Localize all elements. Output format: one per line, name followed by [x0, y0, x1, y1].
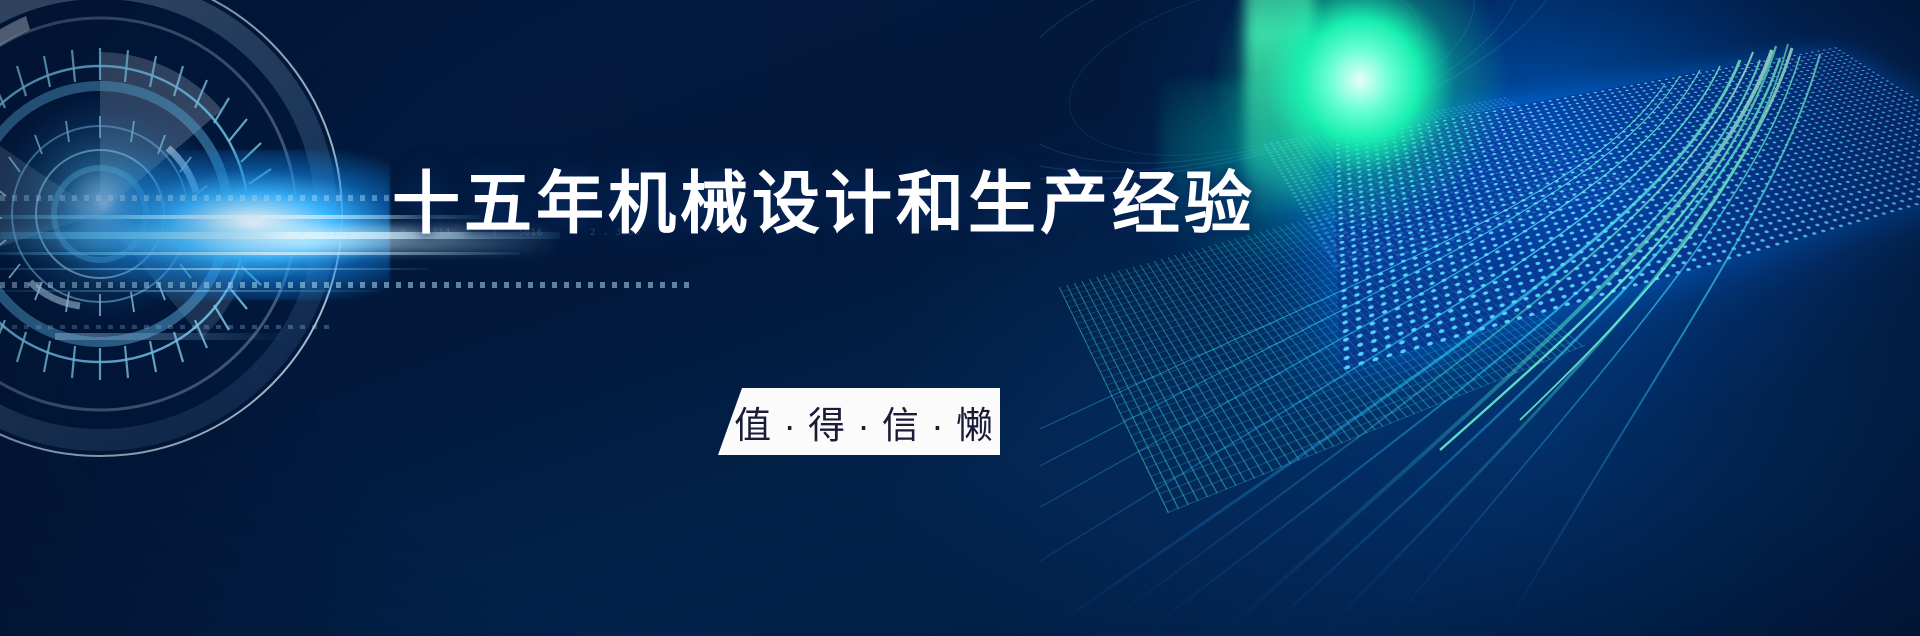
- light-beam: [0, 252, 520, 255]
- page-title: 十五年机械设计和生产经验: [392, 170, 1256, 238]
- light-beam: [0, 290, 380, 292]
- diagonal-light-streaks: [1040, 0, 1920, 636]
- tagline-text: 值 · 得 · 信 · 懒: [724, 395, 994, 449]
- tick-row: [0, 282, 690, 288]
- decor-micro-label: 0 . 2983: [300, 228, 351, 238]
- tick-row: [0, 325, 330, 329]
- hero-banner: 0 . 2983 0 . 3214 1 . 3616 2 . 3906: [0, 0, 1920, 636]
- tick-row: [0, 195, 430, 201]
- decor-bar: [55, 333, 285, 340]
- light-beam: [0, 268, 430, 270]
- tagline-badge: 值 · 得 · 信 · 懒: [718, 388, 1000, 455]
- right-tech-artwork: [1040, 0, 1920, 636]
- hud-core-glow: [60, 150, 390, 300]
